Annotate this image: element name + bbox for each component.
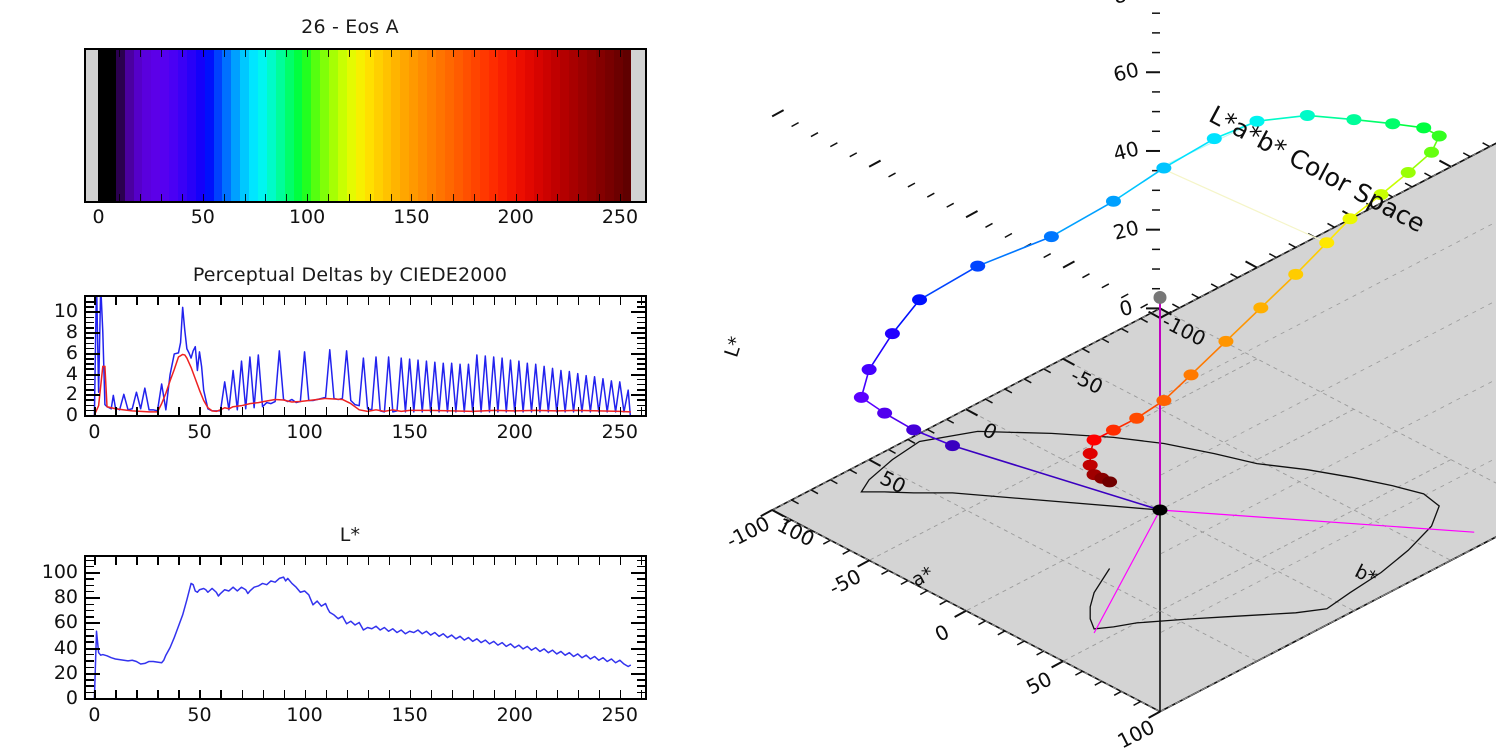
x-tick-mark	[347, 407, 349, 415]
lab3d-point	[1083, 460, 1098, 471]
x-tick-label: 200	[497, 421, 533, 443]
y-tick-label: 4	[0, 363, 78, 385]
colorbar-swatch	[347, 50, 356, 201]
colorbar-swatch	[187, 50, 196, 201]
y-major-tick	[86, 415, 100, 417]
y-tick-mark	[637, 337, 645, 339]
x-tick-mark	[536, 557, 538, 565]
y-tick-mark	[86, 604, 94, 606]
y-tick-mark	[86, 679, 94, 681]
x-tick-mark	[599, 297, 601, 305]
x-tick-mark	[620, 407, 622, 415]
x-tick-mark	[305, 690, 307, 698]
y-tick-mark	[86, 410, 94, 412]
lab3d-point	[854, 392, 869, 403]
x-tick-mark	[347, 297, 349, 305]
x-tick-mark	[178, 690, 180, 698]
y-major-tick	[631, 332, 645, 334]
y-tick-mark	[86, 348, 94, 350]
colorbar-gradient	[86, 50, 645, 201]
x-tick-mark	[305, 407, 307, 415]
x-tick-mark	[410, 690, 412, 698]
lab3d-point	[1300, 110, 1315, 121]
x-tick-mark	[557, 407, 559, 415]
y-major-tick	[86, 394, 100, 396]
lab3d-neutral-marker	[1154, 291, 1167, 304]
colorbar-swatch	[240, 50, 249, 201]
x-tick-mark	[115, 557, 117, 565]
series-L-star	[94, 577, 630, 698]
x-tick-mark	[284, 557, 286, 565]
colorbar-swatch	[623, 50, 632, 201]
x-tick-mark	[557, 297, 559, 305]
y-tick-mark	[637, 585, 645, 587]
y-tick-mark	[86, 327, 94, 329]
x-tick-mark	[599, 407, 601, 415]
lab3d-point	[1087, 435, 1102, 446]
x-tick-label: 100	[286, 704, 322, 726]
x-tick-mark	[136, 297, 138, 305]
x-tick-mark	[473, 297, 475, 305]
lab3d-point	[1319, 237, 1334, 248]
y-major-tick	[631, 698, 645, 700]
x-tick-mark	[263, 297, 265, 305]
y-major-tick	[86, 353, 100, 355]
colorbar-swatch	[160, 50, 169, 201]
colorbar-swatch	[214, 50, 223, 201]
lab3d-point	[1044, 231, 1059, 242]
x-tick-mark	[515, 690, 517, 698]
x-tick-label: 50	[187, 421, 211, 443]
y-tick-label: 0	[0, 687, 78, 709]
x-tick-mark	[452, 557, 454, 565]
y-tick-mark	[637, 301, 645, 303]
colorbar-swatch	[560, 50, 569, 201]
colorbar-x-tick: 250	[602, 206, 638, 228]
lab3d-point	[912, 294, 927, 305]
y-tick-mark	[86, 641, 94, 643]
x-tick-mark	[368, 690, 370, 698]
colorbar-swatch	[418, 50, 427, 201]
x-tick-mark	[494, 407, 496, 415]
colorbar-margin-right	[631, 50, 645, 201]
y-tick-mark	[86, 343, 94, 345]
x-tick-mark	[199, 407, 201, 415]
lab3d-point	[906, 424, 921, 435]
x-tick-mark	[620, 297, 622, 305]
colorbar-swatch	[222, 50, 231, 201]
x-tick-mark	[578, 557, 580, 565]
colorbar-swatch	[498, 50, 507, 201]
colorbar-swatch	[142, 50, 151, 201]
y-tick-mark	[637, 641, 645, 643]
y-major-tick	[86, 374, 100, 376]
x-tick-mark	[136, 407, 138, 415]
x-tick-mark	[157, 297, 159, 305]
y-tick-mark	[637, 635, 645, 637]
colorbar-swatch	[445, 50, 454, 201]
colorbar-swatch	[276, 50, 285, 201]
x-tick-mark	[326, 297, 328, 305]
x-tick-mark	[94, 690, 96, 698]
x-tick-mark	[410, 407, 412, 415]
x-tick-mark	[494, 557, 496, 565]
colorbar-swatch	[525, 50, 534, 201]
colorbar-swatch	[320, 50, 329, 201]
x-tick-mark	[284, 297, 286, 305]
y-tick-mark	[86, 591, 94, 593]
colorbar-swatch	[596, 50, 605, 201]
x-tick-mark	[368, 407, 370, 415]
colorbar-swatch	[374, 50, 383, 201]
y-tick-mark	[637, 667, 645, 669]
lightness-title: L*	[0, 524, 700, 546]
x-tick-mark	[452, 690, 454, 698]
colorbar-swatch	[231, 50, 240, 201]
colorbar-swatch	[436, 50, 445, 201]
y-tick-mark	[637, 591, 645, 593]
colorbar-swatch	[400, 50, 409, 201]
y-tick-mark	[86, 616, 94, 618]
x-tick-mark	[326, 407, 328, 415]
deltas-panel: Perceptual Deltas by CIEDE2000 0246810 0…	[0, 262, 700, 492]
series-delta-raw	[94, 297, 630, 415]
x-tick-mark	[620, 557, 622, 565]
y-major-tick	[631, 597, 645, 599]
x-tick-label: 0	[88, 421, 100, 443]
y-tick-label: 60	[0, 611, 78, 633]
lightness-plot-area	[86, 557, 645, 698]
x-tick-mark	[494, 297, 496, 305]
x-tick-mark	[157, 407, 159, 415]
y-major-tick	[86, 622, 100, 624]
colorbar-swatch	[480, 50, 489, 201]
colorbar-swatch	[427, 50, 436, 201]
y-tick-mark	[86, 317, 94, 319]
x-tick-mark	[473, 557, 475, 565]
x-tick-mark	[536, 407, 538, 415]
y-major-tick	[631, 394, 645, 396]
colorbar-swatch	[356, 50, 365, 201]
y-tick-mark	[637, 578, 645, 580]
colorbar-swatch	[534, 50, 543, 201]
y-tick-mark	[637, 399, 645, 401]
y-tick-mark	[637, 389, 645, 391]
colorbar-swatch	[311, 50, 320, 201]
y-tick-mark	[86, 379, 94, 381]
y-tick-label: 2	[0, 383, 78, 405]
lab3d-yellow-guide	[1160, 168, 1327, 243]
y-major-tick	[631, 353, 645, 355]
x-tick-mark	[557, 690, 559, 698]
y-tick-mark	[637, 685, 645, 687]
lab3d-point	[885, 328, 900, 339]
lab3d-point	[1106, 196, 1121, 207]
x-tick-label: 150	[391, 704, 427, 726]
colorbar-swatch	[409, 50, 418, 201]
x-tick-mark	[431, 557, 433, 565]
lab3d-point	[970, 261, 985, 272]
colorbar-swatch	[471, 50, 480, 201]
y-tick-mark	[86, 399, 94, 401]
y-tick-label: 0	[0, 404, 78, 426]
lab3d-point	[1102, 476, 1117, 487]
x-tick-mark	[199, 690, 201, 698]
y-major-tick	[631, 374, 645, 376]
x-tick-mark	[284, 690, 286, 698]
y-major-tick	[631, 415, 645, 417]
colorbar-swatch	[196, 50, 205, 201]
x-tick-mark	[389, 557, 391, 565]
colorbar-swatch	[249, 50, 258, 201]
x-tick-mark	[473, 690, 475, 698]
x-tick-mark	[284, 407, 286, 415]
x-tick-mark	[389, 297, 391, 305]
deltas-title: Perceptual Deltas by CIEDE2000	[0, 264, 700, 286]
x-tick-mark	[263, 690, 265, 698]
x-tick-mark	[452, 297, 454, 305]
lab3d-point	[1083, 448, 1098, 459]
lab3d-point	[1432, 130, 1447, 141]
y-major-tick	[86, 572, 100, 574]
x-tick-mark	[347, 557, 349, 565]
x-tick-mark	[220, 557, 222, 565]
lab3d-point	[945, 440, 960, 451]
colorbar-swatch	[205, 50, 214, 201]
y-tick-mark	[637, 368, 645, 370]
lab3d-point	[1106, 425, 1121, 436]
colorbar-swatch	[98, 50, 107, 201]
x-tick-mark	[410, 297, 412, 305]
y-tick-label: 40	[0, 637, 78, 659]
colorbar-swatch	[614, 50, 623, 201]
colorbar-title: 26 - Eos A	[0, 16, 700, 38]
lab3d-point	[1129, 413, 1144, 424]
colorbar-axes	[84, 48, 647, 203]
y-tick-mark	[86, 363, 94, 365]
x-tick-label: 200	[497, 704, 533, 726]
y-tick-mark	[637, 610, 645, 612]
x-tick-mark	[94, 557, 96, 565]
x-tick-mark	[368, 557, 370, 565]
y-tick-mark	[637, 317, 645, 319]
y-major-tick	[86, 311, 100, 313]
lab3d-point	[1346, 114, 1361, 125]
y-tick-mark	[86, 306, 94, 308]
y-tick-label: 8	[0, 321, 78, 343]
colorbar-swatch	[134, 50, 143, 201]
y-tick-mark	[637, 358, 645, 360]
x-tick-mark	[473, 407, 475, 415]
y-tick-mark	[86, 560, 94, 562]
x-tick-label: 250	[602, 704, 638, 726]
colorbar-x-tick: 50	[191, 206, 215, 228]
colorbar-x-tick: 100	[289, 206, 325, 228]
y-tick-mark	[637, 322, 645, 324]
y-tick-mark	[637, 692, 645, 694]
x-tick-mark	[199, 297, 201, 305]
y-major-tick	[631, 572, 645, 574]
lab3d-point	[1156, 395, 1171, 406]
y-tick-mark	[637, 348, 645, 350]
lab3d-point	[1156, 162, 1171, 173]
y-tick-mark	[637, 604, 645, 606]
x-tick-mark	[326, 690, 328, 698]
colorbar-swatch	[302, 50, 311, 201]
x-tick-mark	[389, 407, 391, 415]
x-tick-mark	[242, 557, 244, 565]
x-tick-mark	[557, 557, 559, 565]
y-major-tick	[86, 597, 100, 599]
colorbar-x-tick: 0	[92, 206, 104, 228]
y-tick-label: 10	[0, 300, 78, 322]
colorbar-swatch	[578, 50, 587, 201]
x-tick-mark	[178, 297, 180, 305]
x-tick-mark	[94, 407, 96, 415]
colorbar-panel: 26 - Eos A 050100150200250	[0, 8, 700, 238]
x-tick-mark	[599, 690, 601, 698]
colorbar-swatch	[463, 50, 472, 201]
y-major-tick	[86, 698, 100, 700]
y-tick-mark	[637, 660, 645, 662]
colorbar-swatch	[169, 50, 178, 201]
deltas-plot-area	[86, 297, 645, 415]
lab3d-point	[862, 364, 877, 375]
colorbar-swatch	[605, 50, 614, 201]
x-tick-mark	[431, 407, 433, 415]
y-tick-mark	[637, 560, 645, 562]
x-tick-mark	[242, 407, 244, 415]
y-tick-mark	[86, 685, 94, 687]
colorbar-swatch	[569, 50, 578, 201]
x-tick-label: 150	[391, 421, 427, 443]
x-tick-mark	[494, 690, 496, 698]
x-tick-mark	[326, 557, 328, 565]
colorbar-swatch	[285, 50, 294, 201]
x-tick-mark	[242, 690, 244, 698]
lab3d-point	[1184, 369, 1199, 380]
y-tick-mark	[86, 578, 94, 580]
y-tick-mark	[86, 358, 94, 360]
x-tick-mark	[452, 407, 454, 415]
colorbar-swatch	[258, 50, 267, 201]
lightness-panel: L* 020406080100 050100150200250	[0, 522, 700, 748]
y-tick-label: 20	[0, 662, 78, 684]
colorbar-swatch	[516, 50, 525, 201]
y-major-tick	[631, 673, 645, 675]
x-tick-mark	[536, 690, 538, 698]
colorbar-swatch	[507, 50, 516, 201]
colorbar-swatch	[454, 50, 463, 201]
lab3d-left-wall-pane	[1160, 116, 1496, 711]
y-tick-mark	[637, 566, 645, 568]
y-tick-label: 80	[0, 586, 78, 608]
y-tick-label: 100	[0, 561, 78, 583]
x-tick-mark	[578, 690, 580, 698]
y-tick-mark	[86, 384, 94, 386]
lab3d-point	[1424, 147, 1439, 158]
x-tick-mark	[431, 297, 433, 305]
colorbar-swatch	[294, 50, 303, 201]
y-tick-mark	[637, 410, 645, 412]
colorbar-swatch	[587, 50, 596, 201]
colorbar-swatch	[365, 50, 374, 201]
y-tick-mark	[86, 322, 94, 324]
lab3d-point	[877, 408, 892, 419]
colorbar-swatch	[383, 50, 392, 201]
x-tick-mark	[536, 297, 538, 305]
x-tick-mark	[178, 557, 180, 565]
colorbar-x-tick: 150	[393, 206, 429, 228]
x-tick-mark	[263, 557, 265, 565]
colorbar-swatch	[329, 50, 338, 201]
y-tick-mark	[637, 629, 645, 631]
x-tick-mark	[410, 557, 412, 565]
x-tick-mark	[115, 690, 117, 698]
colorbar-swatch	[151, 50, 160, 201]
colorbar-swatch	[391, 50, 400, 201]
colorbar-swatch	[178, 50, 187, 201]
x-tick-label: 50	[187, 704, 211, 726]
lab3d-point	[1401, 167, 1416, 178]
x-tick-mark	[305, 297, 307, 305]
y-tick-mark	[637, 384, 645, 386]
y-major-tick	[86, 648, 100, 650]
colorbar-swatch	[116, 50, 125, 201]
lab3d-point	[1343, 213, 1358, 224]
y-tick-mark	[86, 566, 94, 568]
y-tick-mark	[86, 337, 94, 339]
y-major-tick	[631, 622, 645, 624]
x-tick-mark	[220, 297, 222, 305]
x-tick-mark	[242, 297, 244, 305]
y-tick-mark	[86, 635, 94, 637]
y-tick-mark	[86, 405, 94, 407]
x-tick-mark	[157, 690, 159, 698]
y-tick-mark	[86, 368, 94, 370]
x-tick-mark	[199, 557, 201, 565]
x-tick-mark	[220, 690, 222, 698]
lab3d-point	[1253, 302, 1268, 313]
y-tick-mark	[637, 616, 645, 618]
x-tick-mark	[94, 297, 96, 305]
x-tick-mark	[347, 690, 349, 698]
y-tick-mark	[637, 379, 645, 381]
y-tick-mark	[637, 405, 645, 407]
lab3d-point	[1218, 336, 1233, 347]
y-tick-mark	[637, 654, 645, 656]
x-tick-mark	[368, 297, 370, 305]
y-tick-mark	[86, 610, 94, 612]
x-tick-mark	[220, 407, 222, 415]
x-tick-mark	[578, 297, 580, 305]
x-tick-label: 100	[286, 421, 322, 443]
lab3d-point	[1385, 118, 1400, 129]
x-tick-mark	[157, 557, 159, 565]
lab3d-point	[1288, 269, 1303, 280]
lab3d-panel: L*a*b* Color Space a* b* L* 020406080100…	[700, 0, 1496, 748]
x-tick-mark	[431, 690, 433, 698]
y-major-tick	[86, 673, 100, 675]
x-tick-mark	[263, 407, 265, 415]
lab3d-point	[1153, 505, 1168, 516]
colorbar-swatch	[338, 50, 347, 201]
x-tick-mark	[136, 557, 138, 565]
x-tick-mark	[515, 297, 517, 305]
colorbar-swatch	[489, 50, 498, 201]
y-tick-mark	[86, 660, 94, 662]
x-tick-label: 0	[88, 704, 100, 726]
